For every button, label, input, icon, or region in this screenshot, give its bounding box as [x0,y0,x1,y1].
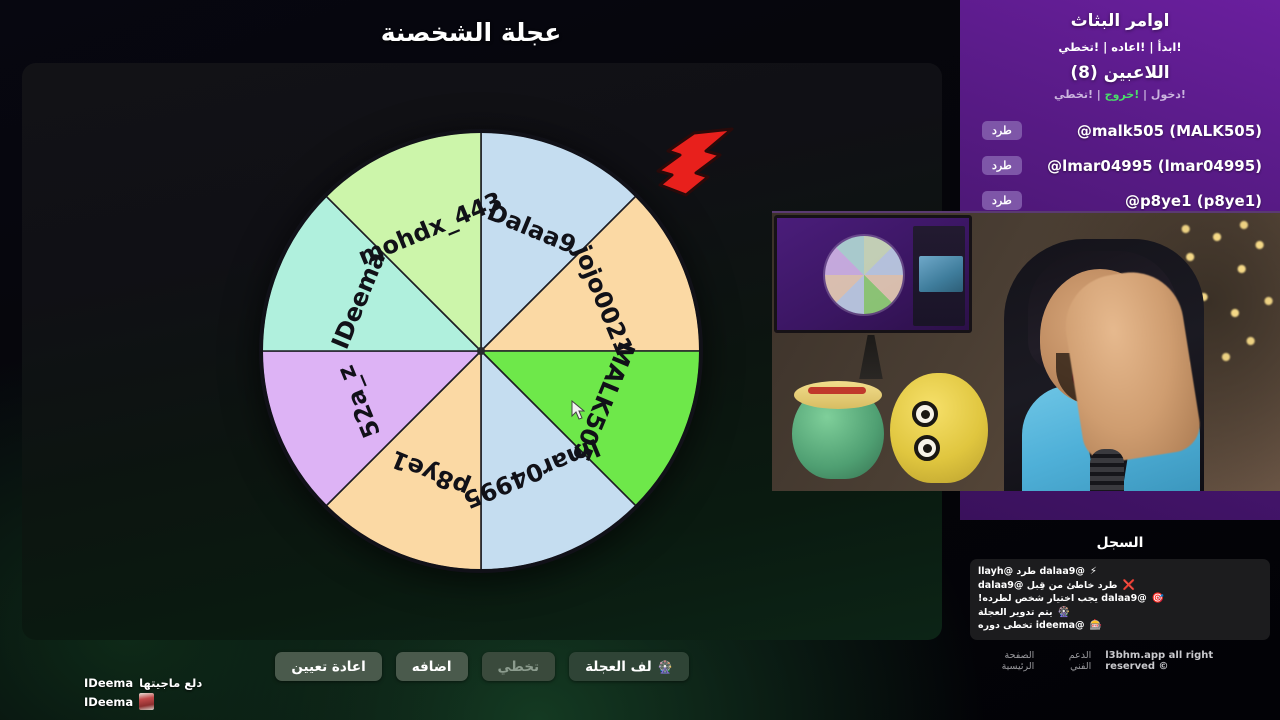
chat-message: دلع ماجيتها [139,676,202,690]
plush-eye-left [912,401,938,427]
wheel-svg[interactable]: Dalaa9jojo0021MALK505lmar04995p8ye152a_z… [258,128,704,574]
footer-copyright: l3bhm.app all right reserved © [1105,650,1266,672]
player-row: @malk505 (MALK505)طرد [960,113,1280,148]
log-entry: طرد خاطئ من قِبل @dalaa9❌ [978,579,1262,593]
log-entry-icon: 🎰 [1090,619,1102,633]
players-cmd-leave: !خروج [1105,88,1140,101]
sidebar-commands: !ابدأ | !اعاده | !تخطي [960,40,1280,54]
spin-wheel-button[interactable]: 🎡 لف العجلة [569,652,689,681]
players-cmd-after: | !تخطي [1054,88,1105,101]
chat-emote-icon [139,693,154,710]
player-name: @p8ye1 (p8ye1) [1125,192,1262,210]
players-heading: اللاعبين (8) [960,63,1280,83]
log-entry-text: يتم تدوير العجلة [978,606,1053,620]
log-title: السجل [960,530,1280,551]
plush-hat-band [808,387,866,394]
sidebar-title: اوامر البثاث [960,0,1280,31]
chat-username: IDeema [84,676,133,690]
chat-line: IDeema [84,693,384,710]
mouse-cursor [571,400,585,420]
log-entry-text: @dalaa9 طرد @llayh [978,565,1085,579]
ferris-wheel-icon: 🎡 [658,660,673,674]
players-commands: !دخول | !خروج | !تخطي [960,88,1280,101]
spin-wheel-label: لف العجلة [585,659,652,675]
microphone [1090,449,1124,491]
log-entry: @dalaa9 يجب اختيار شخص لطرده!🎯 [978,592,1262,606]
log-entry: @dalaa9 طرد @llayh⚡ [978,565,1262,579]
log-entry-text: طرد خاطئ من قِبل @dalaa9 [978,579,1117,593]
activity-log-section: السجل @dalaa9 طرد @llayh⚡طرد خاطئ من قِب… [960,530,1280,660]
page-title: عجلة الشخصنة [0,18,942,47]
stream-overlay-stage: عجلة الشخصنة Dalaa9jojo0021MALK505lmar04… [0,0,1280,720]
plush-eye-right [914,435,940,461]
chat-username: IDeema [84,695,133,709]
footer-support-link[interactable]: الدعم الفني [1048,650,1091,672]
tv-wheel-graphic [825,236,903,314]
log-entries: @dalaa9 طرد @llayh⚡طرد خاطئ من قِبل @dal… [970,559,1270,640]
tv-pip-graphic [919,256,963,292]
yellow-plush-toy [890,373,988,483]
streamer-webcam [772,211,1280,491]
log-entry: يتم تدوير العجلة🎡 [978,606,1262,620]
tv-screen [774,215,972,333]
player-name: @malk505 (MALK505) [1077,122,1262,140]
player-row: @lmar04995 (lmar04995)طرد [960,148,1280,183]
players-cmd-before: !دخول | [1139,88,1186,101]
footer: الصفحة الرئيسية الدعم الفني l3bhm.app al… [960,650,1280,672]
log-entry-icon: ❌ [1122,579,1134,593]
add-button[interactable]: اضافه [396,652,468,681]
skip-button[interactable]: تخطي [482,652,556,681]
log-entry-text: @ideema تخطى دوره [978,619,1085,633]
chat-line: IDeemaدلع ماجيتها [84,676,384,690]
log-entry-icon: 🎡 [1058,606,1070,620]
kick-player-button[interactable]: طرد [982,191,1022,210]
kick-player-button[interactable]: طرد [982,156,1022,175]
player-name: @lmar04995 (lmar04995) [1047,157,1262,175]
footer-home-link[interactable]: الصفحة الرئيسية [974,650,1034,672]
log-entry-icon: 🎯 [1152,592,1164,606]
log-entry-icon: ⚡ [1090,565,1097,579]
plush-straw-hat [794,381,882,409]
chat-overlay: IDeemaدلع ماجيتهاIDeema [84,676,384,710]
kick-player-button[interactable]: طرد [982,121,1022,140]
log-entry: @ideema تخطى دوره🎰 [978,619,1262,633]
log-entry-text: @dalaa9 يجب اختيار شخص لطرده! [978,592,1147,606]
spin-wheel[interactable]: Dalaa9jojo0021MALK505lmar04995p8ye152a_z… [258,128,704,574]
